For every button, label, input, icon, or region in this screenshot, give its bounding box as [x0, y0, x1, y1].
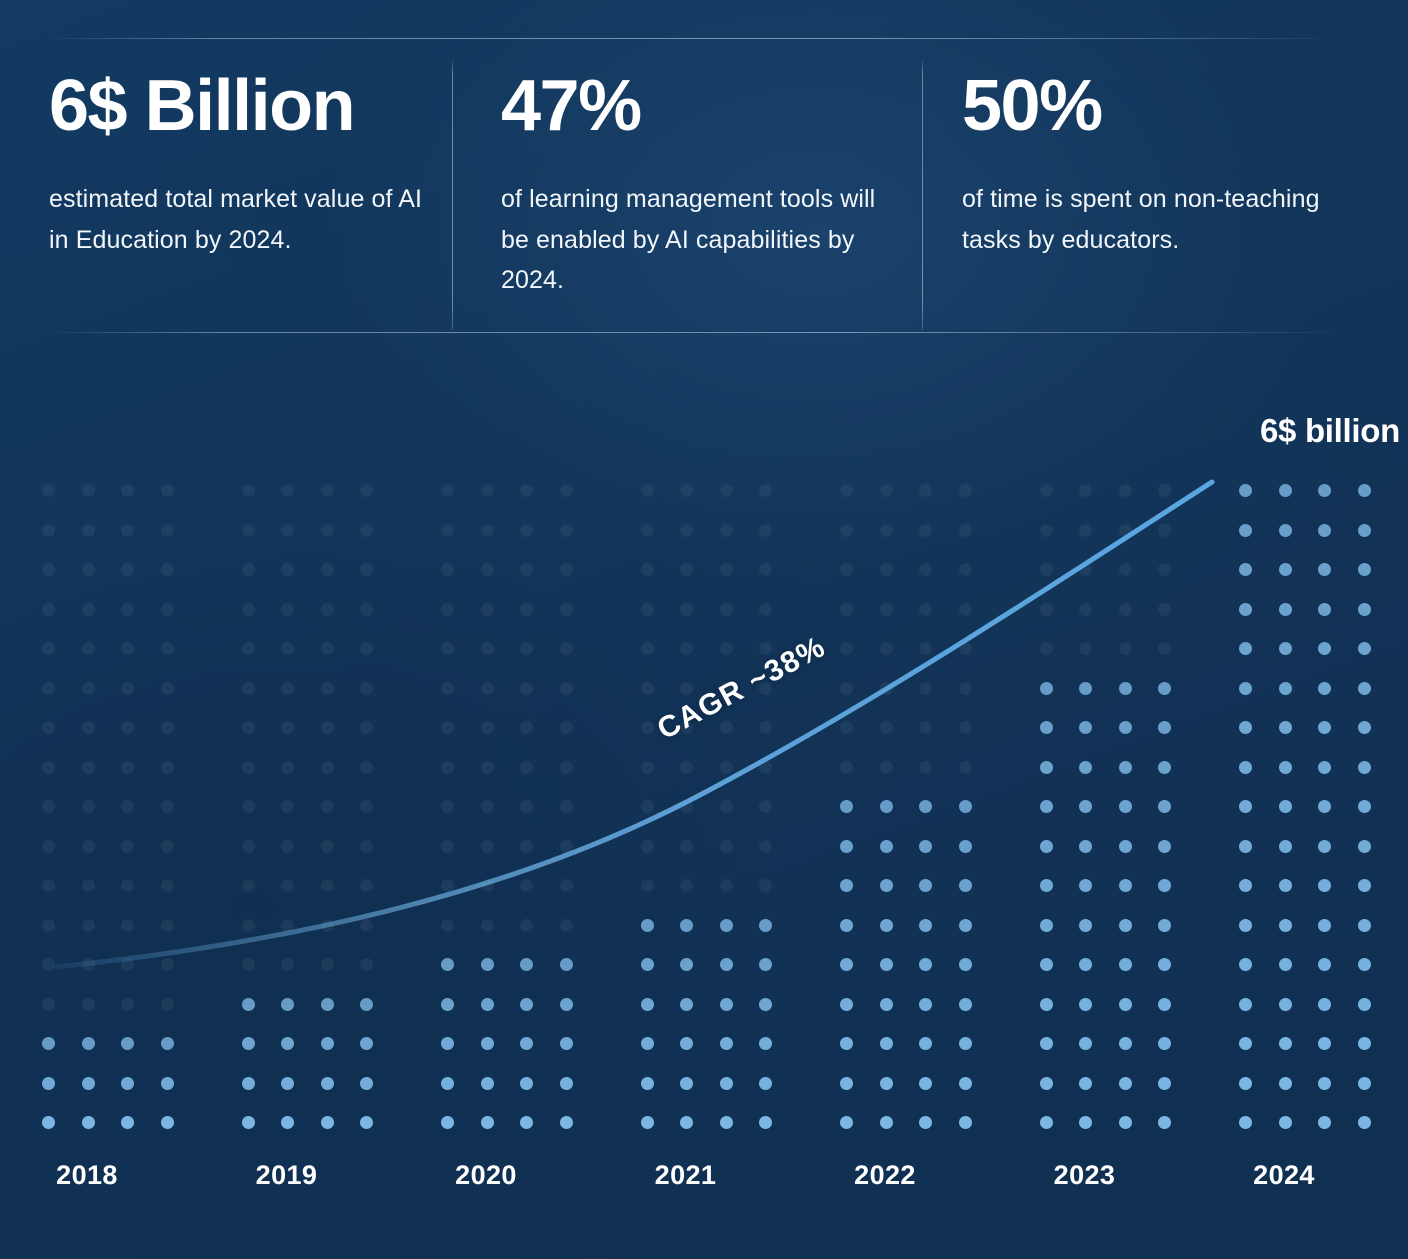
- dot-column-2018: [42, 390, 194, 1070]
- data-dot-filled: [1279, 958, 1292, 971]
- data-dot-filled: [520, 1116, 533, 1129]
- data-dot-filled: [840, 800, 853, 813]
- data-dot-filled: [1318, 484, 1331, 497]
- data-dot-empty: [720, 761, 733, 774]
- data-dot-filled: [1358, 524, 1371, 537]
- data-dot-filled: [82, 1116, 95, 1129]
- data-dot-empty: [759, 879, 772, 892]
- data-dot-empty: [759, 524, 772, 537]
- data-dot-filled: [1158, 840, 1171, 853]
- data-dot-filled: [641, 919, 654, 932]
- data-dot-empty: [281, 800, 294, 813]
- data-dot-empty: [520, 642, 533, 655]
- data-dot-filled: [1119, 998, 1132, 1011]
- data-dot-filled: [1279, 524, 1292, 537]
- data-dot-filled: [281, 1116, 294, 1129]
- data-dot-filled: [560, 1037, 573, 1050]
- data-dot-filled: [1119, 879, 1132, 892]
- data-dot-filled: [242, 1116, 255, 1129]
- data-dot-empty: [321, 682, 334, 695]
- data-dot-filled: [1158, 761, 1171, 774]
- data-dot-empty: [82, 761, 95, 774]
- data-dot-filled: [880, 840, 893, 853]
- data-dot-empty: [880, 682, 893, 695]
- data-dot-filled: [1358, 563, 1371, 576]
- data-dot-filled: [360, 1077, 373, 1090]
- data-dot-empty: [42, 998, 55, 1011]
- data-dot-empty: [959, 603, 972, 616]
- data-dot-empty: [880, 761, 893, 774]
- data-dot-empty: [281, 840, 294, 853]
- data-dot-empty: [42, 603, 55, 616]
- data-dot-filled: [1279, 1037, 1292, 1050]
- data-dot-empty: [281, 879, 294, 892]
- year-label-2018: 2018: [11, 1160, 163, 1191]
- data-dot-filled: [1239, 682, 1252, 695]
- data-dot-empty: [281, 484, 294, 497]
- data-dot-empty: [121, 642, 134, 655]
- data-dot-filled: [360, 1037, 373, 1050]
- data-dot-empty: [680, 642, 693, 655]
- data-dot-empty: [161, 919, 174, 932]
- data-dot-filled: [880, 958, 893, 971]
- data-dot-filled: [759, 1077, 772, 1090]
- data-dot-empty: [441, 879, 454, 892]
- data-dot-empty: [321, 484, 334, 497]
- data-dot-empty: [481, 682, 494, 695]
- data-dot-empty: [82, 484, 95, 497]
- data-dot-empty: [42, 524, 55, 537]
- data-dot-filled: [1079, 1116, 1092, 1129]
- data-dot-empty: [360, 603, 373, 616]
- data-dot-empty: [959, 484, 972, 497]
- data-dot-filled: [680, 1037, 693, 1050]
- data-dot-filled: [1279, 919, 1292, 932]
- data-dot-filled: [1079, 761, 1092, 774]
- data-dot-filled: [1239, 800, 1252, 813]
- data-dot-empty: [242, 642, 255, 655]
- data-dot-filled: [1158, 800, 1171, 813]
- data-dot-filled: [1358, 603, 1371, 616]
- year-label-2024: 2024: [1208, 1160, 1360, 1191]
- data-dot-empty: [1079, 642, 1092, 655]
- data-dot-empty: [42, 642, 55, 655]
- data-dot-filled: [1279, 682, 1292, 695]
- data-dot-filled: [1239, 721, 1252, 734]
- data-dot-empty: [560, 642, 573, 655]
- data-dot-empty: [481, 840, 494, 853]
- data-dot-empty: [720, 642, 733, 655]
- data-dot-filled: [1358, 879, 1371, 892]
- data-dot-empty: [1119, 642, 1132, 655]
- data-dot-filled: [919, 1116, 932, 1129]
- chart-x-axis-labels: 2018201920202021202220232024: [0, 1160, 1408, 1220]
- data-dot-filled: [840, 1116, 853, 1129]
- data-dot-filled: [1040, 1116, 1053, 1129]
- stats-band: 6$ Billion estimated total market value …: [0, 36, 1408, 336]
- data-dot-filled: [919, 1037, 932, 1050]
- data-dot-filled: [641, 1116, 654, 1129]
- stats-vertical-divider-2: [922, 58, 923, 330]
- data-dot-empty: [281, 563, 294, 576]
- data-dot-filled: [1239, 563, 1252, 576]
- data-dot-empty: [481, 879, 494, 892]
- data-dot-empty: [321, 958, 334, 971]
- data-dot-filled: [281, 1037, 294, 1050]
- data-dot-filled: [880, 1077, 893, 1090]
- data-dot-empty: [242, 800, 255, 813]
- data-dot-empty: [641, 563, 654, 576]
- data-dot-filled: [1239, 998, 1252, 1011]
- data-dot-empty: [720, 563, 733, 576]
- data-dot-empty: [42, 563, 55, 576]
- data-dot-filled: [1279, 1077, 1292, 1090]
- data-dot-empty: [759, 761, 772, 774]
- data-dot-empty: [1158, 524, 1171, 537]
- data-dot-empty: [281, 682, 294, 695]
- data-dot-empty: [321, 524, 334, 537]
- data-dot-empty: [360, 682, 373, 695]
- data-dot-empty: [161, 958, 174, 971]
- data-dot-empty: [680, 563, 693, 576]
- data-dot-empty: [242, 484, 255, 497]
- data-dot-filled: [82, 1077, 95, 1090]
- data-dot-filled: [919, 958, 932, 971]
- data-dot-empty: [641, 682, 654, 695]
- data-dot-filled: [161, 1077, 174, 1090]
- data-dot-filled: [680, 919, 693, 932]
- data-dot-empty: [161, 563, 174, 576]
- data-dot-empty: [1079, 484, 1092, 497]
- data-dot-empty: [121, 761, 134, 774]
- data-dot-empty: [520, 879, 533, 892]
- data-dot-empty: [242, 958, 255, 971]
- data-dot-filled: [959, 879, 972, 892]
- data-dot-empty: [121, 682, 134, 695]
- data-dot-filled: [1279, 761, 1292, 774]
- data-dot-filled: [1079, 998, 1092, 1011]
- data-dot-filled: [1358, 1037, 1371, 1050]
- data-dot-empty: [161, 524, 174, 537]
- data-dot-empty: [840, 603, 853, 616]
- data-dot-empty: [520, 563, 533, 576]
- data-dot-filled: [161, 1037, 174, 1050]
- data-dot-filled: [880, 1116, 893, 1129]
- data-dot-filled: [1040, 682, 1053, 695]
- data-dot-filled: [959, 840, 972, 853]
- data-dot-empty: [880, 563, 893, 576]
- year-label-2022: 2022: [809, 1160, 961, 1191]
- data-dot-empty: [82, 800, 95, 813]
- data-dot-empty: [481, 721, 494, 734]
- data-dot-empty: [321, 563, 334, 576]
- data-dot-filled: [321, 1116, 334, 1129]
- data-dot-empty: [680, 800, 693, 813]
- data-dot-empty: [641, 603, 654, 616]
- data-dot-filled: [1158, 879, 1171, 892]
- data-dot-empty: [1119, 484, 1132, 497]
- data-dot-empty: [360, 484, 373, 497]
- data-dot-empty: [121, 603, 134, 616]
- data-dot-filled: [641, 1077, 654, 1090]
- data-dot-filled: [242, 998, 255, 1011]
- data-dot-filled: [720, 998, 733, 1011]
- data-dot-empty: [919, 484, 932, 497]
- data-dot-empty: [720, 721, 733, 734]
- data-dot-filled: [959, 1077, 972, 1090]
- data-dot-filled: [1358, 484, 1371, 497]
- data-dot-filled: [1040, 958, 1053, 971]
- data-dot-filled: [759, 1116, 772, 1129]
- data-dot-empty: [121, 524, 134, 537]
- dot-column-2020: [441, 390, 593, 1070]
- stat-description: estimated total market value of AI in Ed…: [49, 179, 434, 260]
- data-dot-filled: [959, 998, 972, 1011]
- data-dot-empty: [1040, 563, 1053, 576]
- data-dot-filled: [1079, 840, 1092, 853]
- data-dot-filled: [242, 1037, 255, 1050]
- data-dot-filled: [1279, 998, 1292, 1011]
- data-dot-empty: [82, 879, 95, 892]
- data-dot-filled: [919, 1077, 932, 1090]
- data-dot-empty: [1079, 603, 1092, 616]
- data-dot-filled: [1158, 1037, 1171, 1050]
- data-dot-filled: [1158, 919, 1171, 932]
- data-dot-empty: [281, 524, 294, 537]
- stat-card-market-value: 6$ Billion estimated total market value …: [49, 70, 434, 260]
- data-dot-empty: [560, 682, 573, 695]
- data-dot-empty: [680, 603, 693, 616]
- year-label-2023: 2023: [1009, 1160, 1161, 1191]
- data-dot-empty: [1040, 603, 1053, 616]
- data-dot-filled: [1318, 800, 1331, 813]
- data-dot-filled: [641, 958, 654, 971]
- data-dot-filled: [441, 1037, 454, 1050]
- data-dot-filled: [1079, 721, 1092, 734]
- data-dot-empty: [840, 642, 853, 655]
- data-dot-filled: [1358, 1077, 1371, 1090]
- data-dot-empty: [441, 800, 454, 813]
- stat-value: 47%: [501, 70, 906, 142]
- data-dot-empty: [242, 879, 255, 892]
- stats-vertical-divider-1: [452, 58, 453, 330]
- data-dot-filled: [1279, 1116, 1292, 1129]
- data-dot-filled: [840, 840, 853, 853]
- data-dot-filled: [520, 958, 533, 971]
- data-dot-empty: [1079, 563, 1092, 576]
- data-dot-empty: [441, 761, 454, 774]
- data-dot-empty: [1079, 524, 1092, 537]
- data-dot-empty: [919, 524, 932, 537]
- data-dot-empty: [242, 761, 255, 774]
- data-dot-filled: [919, 998, 932, 1011]
- data-dot-empty: [520, 682, 533, 695]
- data-dot-filled: [880, 998, 893, 1011]
- data-dot-empty: [161, 761, 174, 774]
- data-dot-empty: [42, 682, 55, 695]
- data-dot-filled: [1358, 998, 1371, 1011]
- data-dot-empty: [161, 800, 174, 813]
- data-dot-filled: [1119, 1116, 1132, 1129]
- data-dot-empty: [560, 603, 573, 616]
- data-dot-filled: [1239, 603, 1252, 616]
- data-dot-empty: [42, 484, 55, 497]
- data-dot-empty: [560, 879, 573, 892]
- data-dot-filled: [720, 1037, 733, 1050]
- data-dot-filled: [1158, 1077, 1171, 1090]
- data-dot-filled: [840, 958, 853, 971]
- data-dot-empty: [121, 563, 134, 576]
- data-dot-filled: [42, 1037, 55, 1050]
- data-dot-empty: [281, 958, 294, 971]
- data-dot-filled: [1040, 1037, 1053, 1050]
- data-dot-filled: [1318, 1037, 1331, 1050]
- data-dot-filled: [1358, 682, 1371, 695]
- data-dot-filled: [919, 879, 932, 892]
- data-dot-filled: [161, 1116, 174, 1129]
- data-dot-filled: [560, 1077, 573, 1090]
- data-dot-filled: [1318, 524, 1331, 537]
- data-dot-filled: [959, 958, 972, 971]
- data-dot-filled: [840, 879, 853, 892]
- data-dot-empty: [121, 721, 134, 734]
- data-dot-empty: [82, 998, 95, 1011]
- data-dot-filled: [1158, 1116, 1171, 1129]
- data-dot-empty: [919, 642, 932, 655]
- data-dot-empty: [321, 642, 334, 655]
- data-dot-empty: [42, 800, 55, 813]
- data-dot-empty: [520, 800, 533, 813]
- data-dot-empty: [680, 524, 693, 537]
- stats-top-divider: [44, 38, 1344, 39]
- data-dot-empty: [560, 524, 573, 537]
- data-dot-empty: [82, 603, 95, 616]
- data-dot-filled: [1358, 919, 1371, 932]
- data-dot-empty: [720, 524, 733, 537]
- data-dot-empty: [360, 840, 373, 853]
- data-dot-empty: [121, 958, 134, 971]
- data-dot-filled: [1119, 840, 1132, 853]
- data-dot-filled: [1119, 761, 1132, 774]
- data-dot-empty: [1040, 484, 1053, 497]
- data-dot-empty: [720, 603, 733, 616]
- data-dot-filled: [321, 1077, 334, 1090]
- data-dot-empty: [1158, 603, 1171, 616]
- data-dot-empty: [759, 563, 772, 576]
- data-dot-filled: [919, 919, 932, 932]
- data-dot-filled: [959, 1037, 972, 1050]
- data-dot-empty: [840, 484, 853, 497]
- data-dot-empty: [242, 563, 255, 576]
- data-dot-filled: [1158, 998, 1171, 1011]
- data-dot-filled: [1119, 919, 1132, 932]
- data-dot-empty: [680, 484, 693, 497]
- data-dot-empty: [641, 800, 654, 813]
- data-dot-empty: [281, 642, 294, 655]
- data-dot-empty: [161, 840, 174, 853]
- data-dot-filled: [1119, 1037, 1132, 1050]
- data-dot-filled: [481, 998, 494, 1011]
- data-dot-empty: [242, 840, 255, 853]
- data-dot-empty: [560, 761, 573, 774]
- data-dot-empty: [161, 682, 174, 695]
- data-dot-empty: [959, 563, 972, 576]
- data-dot-empty: [161, 998, 174, 1011]
- data-dot-empty: [360, 563, 373, 576]
- data-dot-empty: [441, 682, 454, 695]
- data-dot-filled: [720, 958, 733, 971]
- data-dot-empty: [919, 603, 932, 616]
- data-dot-empty: [441, 563, 454, 576]
- data-dot-filled: [321, 998, 334, 1011]
- stat-value: 6$ Billion: [49, 70, 434, 142]
- data-dot-empty: [520, 919, 533, 932]
- data-dot-filled: [360, 998, 373, 1011]
- data-dot-empty: [82, 642, 95, 655]
- data-dot-empty: [520, 761, 533, 774]
- data-dot-filled: [880, 1037, 893, 1050]
- data-dot-filled: [1239, 1116, 1252, 1129]
- data-dot-filled: [1079, 958, 1092, 971]
- data-dot-empty: [281, 603, 294, 616]
- data-dot-empty: [321, 761, 334, 774]
- data-dot-empty: [360, 642, 373, 655]
- data-dot-empty: [759, 721, 772, 734]
- data-dot-filled: [281, 998, 294, 1011]
- data-dot-filled: [520, 1037, 533, 1050]
- data-dot-filled: [1358, 958, 1371, 971]
- data-dot-empty: [42, 840, 55, 853]
- data-dot-filled: [919, 800, 932, 813]
- data-dot-empty: [321, 800, 334, 813]
- data-dot-empty: [720, 800, 733, 813]
- data-dot-empty: [121, 998, 134, 1011]
- data-dot-filled: [1158, 682, 1171, 695]
- data-dot-filled: [441, 1116, 454, 1129]
- data-dot-filled: [680, 998, 693, 1011]
- data-dot-empty: [481, 484, 494, 497]
- data-dot-empty: [1158, 484, 1171, 497]
- data-dot-filled: [759, 919, 772, 932]
- data-dot-filled: [1358, 642, 1371, 655]
- chart-plot-area: 6$ billion CAGR ~38%: [0, 390, 1408, 1150]
- data-dot-filled: [1279, 721, 1292, 734]
- data-dot-filled: [840, 1077, 853, 1090]
- data-dot-filled: [641, 998, 654, 1011]
- data-dot-filled: [1279, 879, 1292, 892]
- data-dot-filled: [82, 1037, 95, 1050]
- data-dot-filled: [1239, 1037, 1252, 1050]
- data-dot-empty: [641, 642, 654, 655]
- data-dot-filled: [1318, 721, 1331, 734]
- data-dot-empty: [641, 524, 654, 537]
- data-dot-empty: [281, 721, 294, 734]
- data-dot-filled: [959, 919, 972, 932]
- data-dot-filled: [1279, 484, 1292, 497]
- data-dot-filled: [1158, 958, 1171, 971]
- data-dot-filled: [1040, 919, 1053, 932]
- data-dot-empty: [360, 879, 373, 892]
- data-dot-filled: [1079, 919, 1092, 932]
- data-dot-empty: [121, 484, 134, 497]
- data-dot-empty: [641, 721, 654, 734]
- data-dot-filled: [242, 1077, 255, 1090]
- data-dot-empty: [481, 603, 494, 616]
- data-dot-empty: [759, 800, 772, 813]
- data-dot-empty: [242, 524, 255, 537]
- data-dot-filled: [1119, 958, 1132, 971]
- data-dot-empty: [82, 840, 95, 853]
